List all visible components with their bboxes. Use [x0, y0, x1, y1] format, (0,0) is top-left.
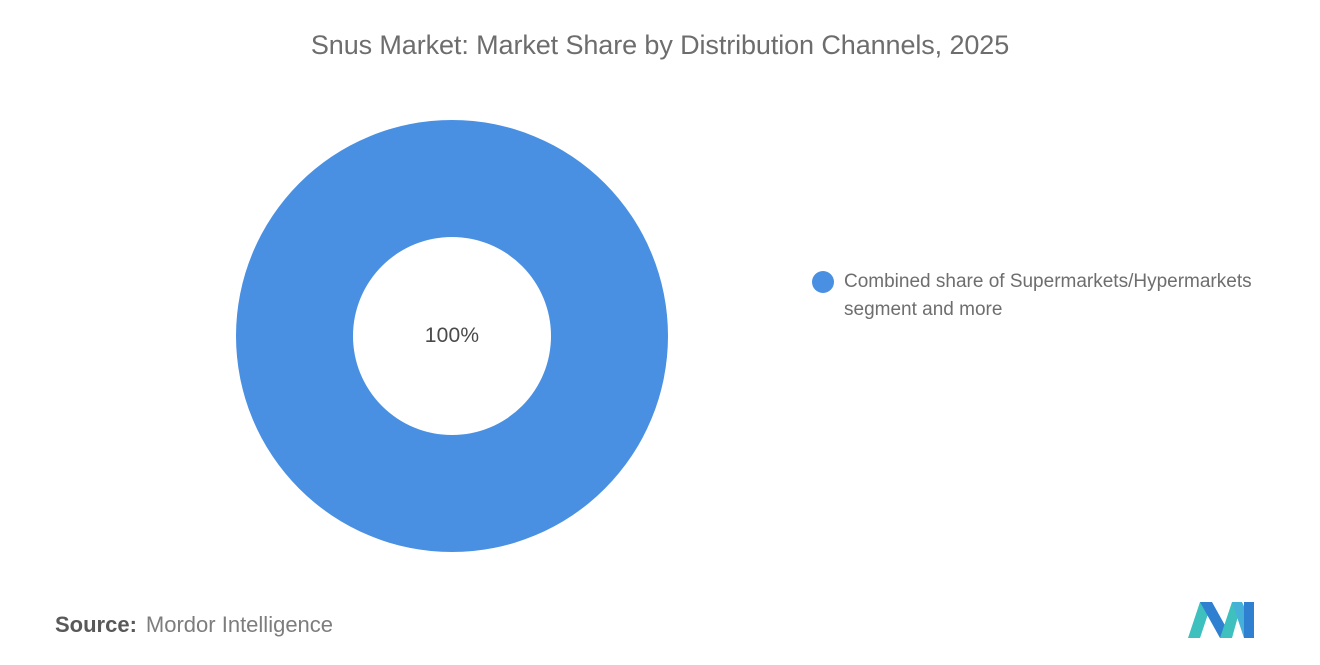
legend-item-label: Combined share of Supermarkets/Hypermark… — [844, 268, 1274, 324]
chart-title: Snus Market: Market Share by Distributio… — [0, 30, 1320, 61]
mordor-intelligence-logo-icon — [1186, 598, 1258, 642]
donut-chart-svg — [236, 120, 668, 552]
legend-item-combined-share[interactable]: Combined share of Supermarkets/Hypermark… — [812, 268, 1274, 324]
source-value: Mordor Intelligence — [146, 612, 333, 638]
chart-legend: Combined share of Supermarkets/Hypermark… — [812, 268, 1282, 324]
legend-swatch-icon — [812, 271, 834, 293]
source-line: Source: Mordor Intelligence — [55, 612, 333, 638]
source-label: Source: — [55, 612, 137, 638]
donut-hole — [353, 237, 551, 435]
donut-chart: 100% — [236, 120, 668, 552]
logo-svg — [1186, 598, 1258, 642]
